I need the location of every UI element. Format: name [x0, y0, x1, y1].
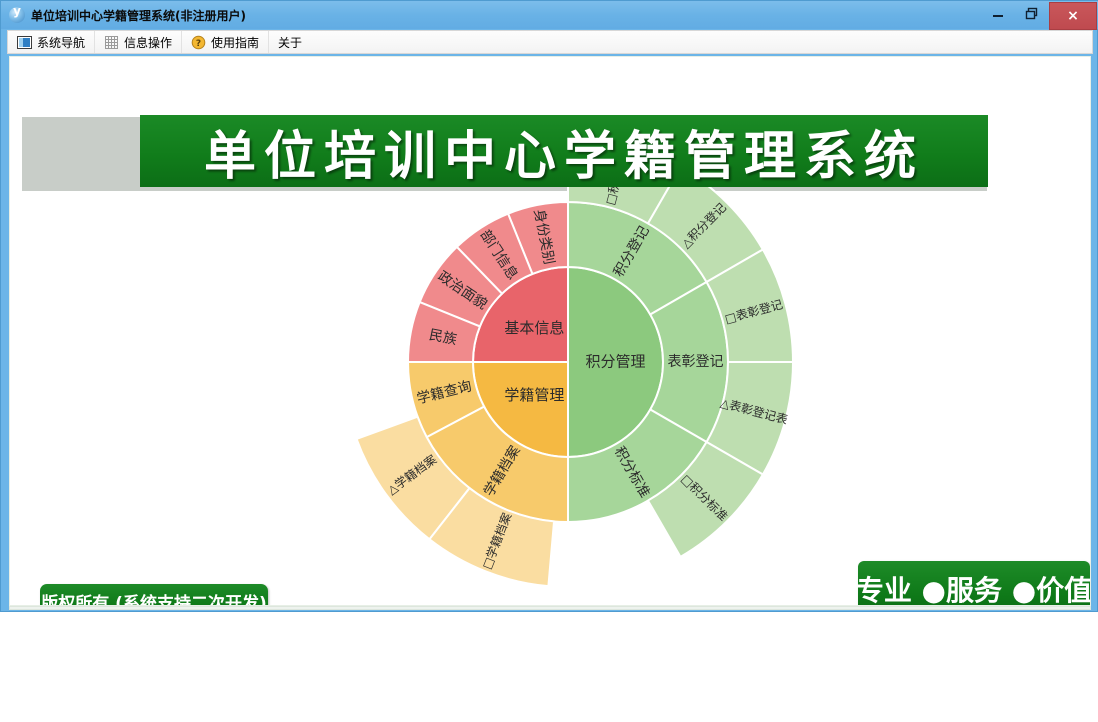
- menu-toolbar: 系统导航 信息操作 ? 使用指南 关于: [7, 30, 1093, 54]
- menu-item-label: 使用指南: [211, 34, 259, 51]
- page-title: 单位培训中心学籍管理系统: [204, 114, 924, 189]
- copyright-badge: 版权所有 (系统支持二次开发): [40, 584, 268, 606]
- application-window: 单位培训中心学籍管理系统(非注册用户) ×: [0, 0, 1098, 612]
- menu-item-label: 系统导航: [37, 34, 85, 51]
- sunburst-segment-label: 积分管理: [585, 353, 645, 371]
- help-orange-icon: ?: [191, 35, 206, 50]
- close-button[interactable]: ×: [1049, 2, 1097, 30]
- slogan-badge: 专业 ●服务 ●价值: [858, 561, 1090, 606]
- window-blue-icon: [17, 35, 32, 50]
- grid-icon: [104, 35, 119, 50]
- status-bar: [9, 606, 1091, 610]
- window-title: 单位培训中心学籍管理系统(非注册用户): [31, 7, 246, 24]
- menu-item-system-nav[interactable]: 系统导航: [8, 31, 95, 53]
- window-controls: ×: [981, 1, 1098, 29]
- sunburst-segment-label: 基本信息: [504, 319, 564, 337]
- banner-title-bar: 单位培训中心学籍管理系统: [140, 115, 988, 187]
- app-logo-icon: [9, 7, 25, 23]
- menu-item-about[interactable]: 关于: [269, 31, 311, 53]
- content-panel: 积分管理积分登记□积分登记△积分登记表彰登记□表彰登记△表彰登记表积分标准□积分…: [9, 56, 1091, 606]
- sunburst-segment-label: 表彰登记: [668, 353, 724, 370]
- minimize-icon: [991, 7, 1005, 21]
- svg-text:?: ?: [196, 39, 201, 49]
- menu-item-user-guide[interactable]: ? 使用指南: [182, 31, 269, 53]
- menu-item-label: 关于: [278, 34, 302, 51]
- menu-item-info-ops[interactable]: 信息操作: [95, 31, 182, 53]
- minimize-button[interactable]: [981, 1, 1015, 27]
- sunburst-segment-label: 学籍管理: [504, 386, 564, 404]
- maximize-button[interactable]: [1015, 1, 1049, 27]
- close-icon: ×: [1067, 8, 1079, 24]
- restore-icon: [1024, 6, 1040, 22]
- title-bar: 单位培训中心学籍管理系统(非注册用户) ×: [1, 1, 1098, 29]
- menu-item-label: 信息操作: [124, 34, 172, 51]
